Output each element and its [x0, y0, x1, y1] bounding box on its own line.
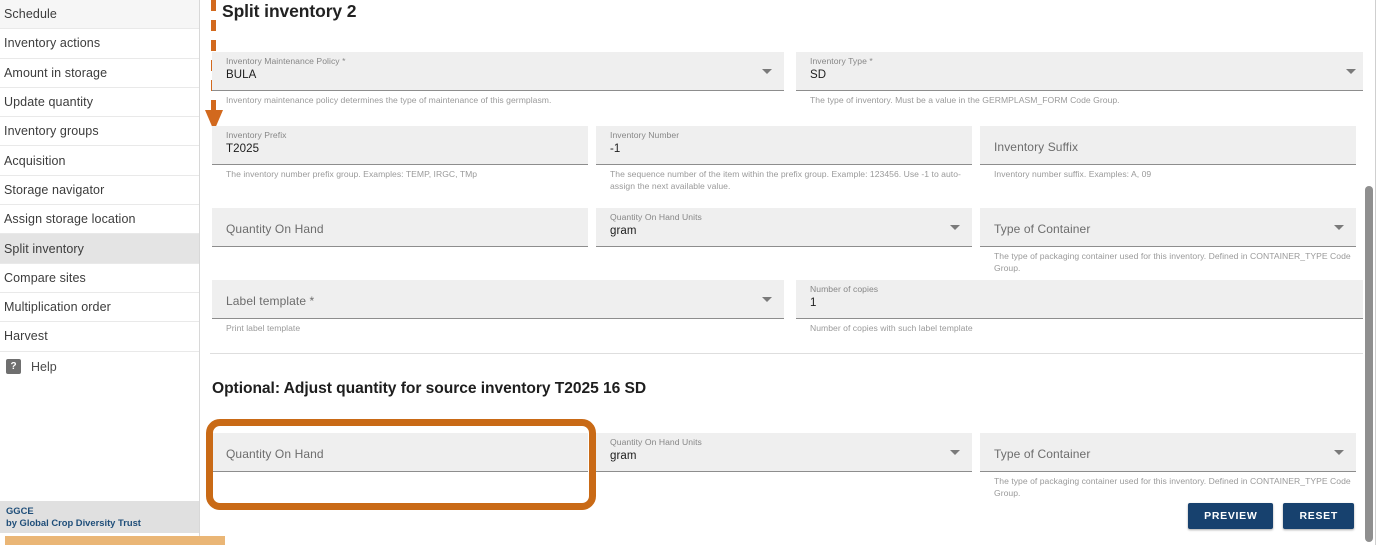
quantity-on-hand-units-label: Quantity On Hand Units: [610, 212, 962, 223]
quantity-on-hand-placeholder: Quantity On Hand: [226, 212, 578, 247]
reset-button[interactable]: RESET: [1283, 503, 1354, 529]
inventory-type-select[interactable]: Inventory Type * SD: [796, 52, 1368, 91]
chevron-down-icon[interactable]: [1334, 450, 1344, 455]
sidebar-item-label: Harvest: [4, 329, 48, 343]
source-quantity-on-hand-units-value: gram: [610, 448, 962, 465]
application-window: Schedule Inventory actions Amount in sto…: [0, 0, 1376, 545]
section-title: Optional: Adjust quantity for source inv…: [212, 380, 646, 398]
quantity-on-hand-units-select[interactable]: Quantity On Hand Units gram: [596, 208, 972, 247]
inventory-prefix-hint: The inventory number prefix group. Examp…: [212, 165, 582, 181]
form-row-2: Inventory Prefix T2025 The inventory num…: [212, 126, 1356, 192]
chevron-down-icon[interactable]: [950, 450, 960, 455]
sidebar-item-label: Storage navigator: [4, 183, 104, 197]
inventory-suffix-placeholder: Inventory Suffix: [994, 130, 1346, 165]
source-type-of-container-hint: The type of packaging container used for…: [980, 472, 1356, 499]
sidebar-item-split-inventory[interactable]: Split inventory: [0, 234, 199, 263]
form-row-3: Quantity On Hand Quantity On Hand Units …: [212, 208, 1356, 274]
chevron-down-icon[interactable]: [1334, 225, 1344, 230]
page-title: Split inventory 2: [222, 1, 356, 22]
number-of-copies-hint: Number of copies with such label templat…: [796, 319, 1356, 335]
inventory-number-value: -1: [610, 141, 962, 158]
inventory-suffix-input[interactable]: Inventory Suffix: [980, 126, 1356, 165]
sidebar-item-label: Schedule: [4, 7, 57, 21]
sidebar-item-storage-navigator[interactable]: Storage navigator: [0, 176, 199, 205]
source-quantity-on-hand-input[interactable]: Quantity On Hand: [212, 433, 588, 472]
inventory-maintenance-policy-select[interactable]: Inventory Maintenance Policy * BULA: [212, 52, 784, 91]
sidebar-item-inventory-groups[interactable]: Inventory groups: [0, 117, 199, 146]
inventory-suffix-hint: Inventory number suffix. Examples: A, 09: [980, 165, 1350, 181]
source-quantity-on-hand-units-select[interactable]: Quantity On Hand Units gram: [596, 433, 972, 472]
source-type-of-container-placeholder: Type of Container: [994, 437, 1346, 472]
sidebar-item-schedule[interactable]: Schedule: [0, 0, 199, 29]
sidebar-item-label: Inventory groups: [4, 124, 99, 138]
sidebar-item-multiplication-order[interactable]: Multiplication order: [0, 293, 199, 322]
number-of-copies-input[interactable]: Number of copies 1: [796, 280, 1368, 319]
form-row-4: Label template * Print label template Nu…: [212, 280, 1368, 335]
sidebar-item-help[interactable]: ? Help: [0, 352, 199, 382]
inventory-number-input[interactable]: Inventory Number -1: [596, 126, 972, 165]
sidebar-item-label: Compare sites: [4, 271, 86, 285]
type-of-container-select[interactable]: Type of Container: [980, 208, 1356, 247]
sidebar-item-inventory-actions[interactable]: Inventory actions: [0, 29, 199, 58]
inventory-maintenance-policy-hint: Inventory maintenance policy determines …: [212, 91, 772, 107]
source-type-of-container-select[interactable]: Type of Container: [980, 433, 1356, 472]
sidebar-item-label: Amount in storage: [4, 66, 107, 80]
label-template-select[interactable]: Label template *: [212, 280, 784, 319]
vertical-scrollbar-thumb[interactable]: [1365, 186, 1373, 542]
sidebar-item-label: Acquisition: [4, 154, 66, 168]
left-sidebar: Schedule Inventory actions Amount in sto…: [0, 0, 200, 545]
chevron-down-icon[interactable]: [762, 69, 772, 74]
type-of-container-placeholder: Type of Container: [994, 212, 1346, 247]
action-button-bar: PREVIEW RESET: [1188, 503, 1354, 529]
quantity-on-hand-input[interactable]: Quantity On Hand: [212, 208, 588, 247]
chevron-down-icon[interactable]: [762, 297, 772, 302]
inventory-maintenance-policy-label: Inventory Maintenance Policy *: [226, 56, 774, 67]
inventory-type-label: Inventory Type *: [810, 56, 1358, 67]
number-of-copies-value: 1: [810, 295, 1358, 312]
sidebar-item-update-quantity[interactable]: Update quantity: [0, 88, 199, 117]
inventory-maintenance-policy-value: BULA: [226, 67, 774, 84]
sidebar-item-label: Assign storage location: [4, 212, 136, 226]
inventory-number-label: Inventory Number: [610, 130, 962, 141]
help-label: Help: [31, 360, 57, 374]
question-mark-icon: ?: [6, 359, 21, 374]
chevron-down-icon[interactable]: [950, 225, 960, 230]
quantity-on-hand-units-value: gram: [610, 223, 962, 240]
label-template-placeholder: Label template *: [226, 284, 774, 319]
form-row-5: Quantity On Hand Quantity On Hand Units …: [212, 433, 1356, 499]
sidebar-nav-list: Schedule Inventory actions Amount in sto…: [0, 0, 199, 352]
form-row-1: Inventory Maintenance Policy * BULA Inve…: [212, 52, 1368, 107]
type-of-container-hint: The type of packaging container used for…: [980, 247, 1356, 274]
brand-footer: GGCE by Global Crop Diversity Trust: [0, 501, 199, 533]
inventory-prefix-value: T2025: [226, 141, 578, 158]
sidebar-item-amount-in-storage[interactable]: Amount in storage: [0, 59, 199, 88]
section-divider: [210, 353, 1365, 354]
label-template-hint: Print label template: [212, 319, 582, 335]
source-quantity-on-hand-units-label: Quantity On Hand Units: [610, 437, 962, 448]
sidebar-item-label: Split inventory: [4, 242, 84, 256]
inventory-type-value: SD: [810, 67, 1358, 84]
sidebar-item-acquisition[interactable]: Acquisition: [0, 146, 199, 175]
brand-subtitle: by Global Crop Diversity Trust: [6, 517, 199, 529]
source-quantity-on-hand-placeholder: Quantity On Hand: [226, 437, 578, 472]
chevron-down-icon[interactable]: [1346, 69, 1356, 74]
inventory-type-hint: The type of inventory. Must be a value i…: [796, 91, 1356, 107]
sidebar-item-harvest[interactable]: Harvest: [0, 322, 199, 351]
number-of-copies-label: Number of copies: [810, 284, 1358, 295]
inventory-number-hint: The sequence number of the item within t…: [596, 165, 966, 192]
sidebar-item-label: Multiplication order: [4, 300, 111, 314]
brand-name: GGCE: [6, 505, 199, 517]
inventory-prefix-label: Inventory Prefix: [226, 130, 578, 141]
main-content: Split inventory 2 Inventory Maintenance …: [200, 0, 1376, 545]
inventory-prefix-input[interactable]: Inventory Prefix T2025: [212, 126, 588, 165]
preview-button[interactable]: PREVIEW: [1188, 503, 1273, 529]
sidebar-item-label: Inventory actions: [4, 36, 100, 50]
sidebar-item-compare-sites[interactable]: Compare sites: [0, 264, 199, 293]
sidebar-item-label: Update quantity: [4, 95, 93, 109]
sidebar-item-assign-storage-location[interactable]: Assign storage location: [0, 205, 199, 234]
annotation-bottom-strip: [5, 536, 225, 545]
